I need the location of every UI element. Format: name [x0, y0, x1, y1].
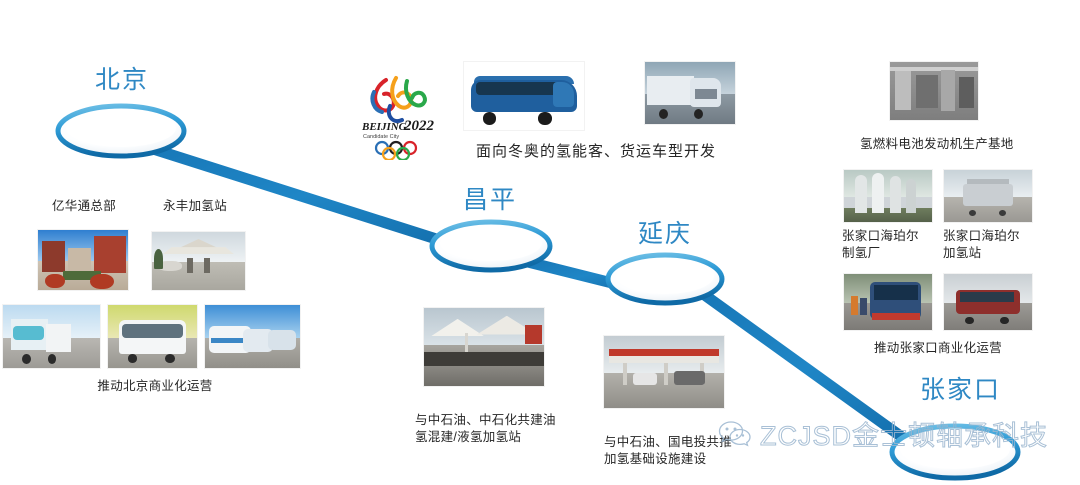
caption-cnpc-spic-infra: 与中石油、国电投共推 加氢基础设施建设	[604, 434, 732, 468]
node-beijing	[58, 106, 184, 156]
slide-canvas: 北京 昌平 延庆 张家口 BEIJING 2022 Candidate City…	[0, 0, 1080, 485]
photo-engine-factory	[890, 62, 978, 120]
caption-winter-olympics-vehicles: 面向冬奥的氢能客、货运车型开发	[476, 143, 716, 160]
photo-fc-citybus	[108, 305, 197, 368]
olympic-wordmark: BEIJING	[361, 121, 407, 133]
node-changping	[432, 222, 550, 270]
caption-beijing-commercial: 推动北京商业化运营	[55, 378, 255, 395]
caption-zhangjiakou-commercial: 推动张家口商业化运营	[838, 340, 1038, 357]
photo-yihuatong-campus	[38, 230, 128, 290]
beijing-2022-logo: BEIJING 2022 Candidate City	[360, 72, 446, 160]
caption-yongfeng-station: 永丰加氢站	[163, 198, 227, 215]
photo-sail-station	[424, 308, 544, 386]
photo-zjk-red-bus	[944, 274, 1032, 330]
photo-fc-truck	[3, 305, 100, 368]
caption-haiboer-station: 张家口海珀尔 加氢站	[943, 228, 1020, 262]
photo-blue-coach	[464, 62, 584, 130]
city-label-yanqing: 延庆	[638, 214, 692, 250]
olympic-year: 2022	[403, 118, 435, 134]
photo-highway-truck	[645, 62, 735, 124]
caption-fuel-cell-engine-base: 氢燃料电池发动机生产基地	[860, 136, 1014, 153]
photo-haiboer-plant	[844, 170, 932, 222]
photo-yongfeng-station	[152, 232, 245, 290]
city-label-zhangjiakou: 张家口	[920, 370, 1001, 406]
route-beijing-changping	[150, 148, 452, 244]
photo-fc-coach-fleet	[205, 305, 300, 368]
city-label-beijing: 北京	[95, 60, 149, 96]
photo-oil-hydrogen-station	[604, 336, 724, 408]
photo-haiboer-station	[944, 170, 1032, 222]
caption-haiboer-plant: 张家口海珀尔 制氢厂	[842, 228, 919, 262]
caption-cnpc-sinopec-station: 与中石油、中石化共建油 氢混建/液氢加氢站	[415, 412, 556, 446]
node-yanqing	[608, 255, 722, 303]
city-label-changping: 昌平	[463, 180, 517, 216]
photo-zjk-bus-rear	[844, 274, 932, 330]
olympic-subtitle: Candidate City	[363, 134, 399, 140]
node-zhangjiakou	[892, 426, 1018, 478]
caption-yihuatong-hq: 亿华通总部	[52, 198, 116, 215]
